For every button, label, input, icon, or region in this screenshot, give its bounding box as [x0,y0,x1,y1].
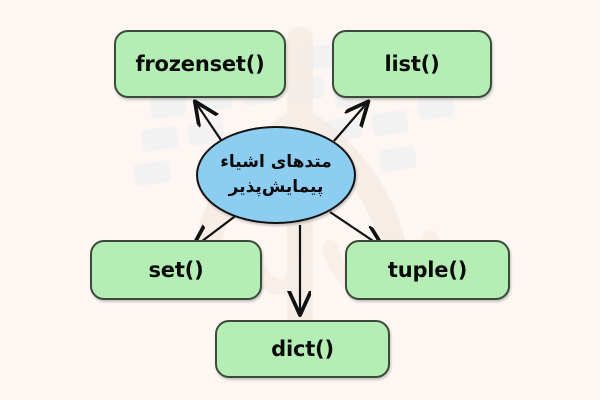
node-frozenset-label: frozenset() [135,52,264,76]
center-node-label-line-2: پیمایش‌پذیر [229,175,324,201]
center-node-iterable-methods[interactable]: متدهای اشیاء پیمایش‌پذیر [196,126,356,224]
node-tuple[interactable]: tuple() [345,240,510,300]
diagram-canvas: متدهای اشیاء پیمایش‌پذیر frozenset() lis… [0,0,600,400]
node-list-label: list() [385,52,440,76]
node-set[interactable]: set() [90,240,262,300]
edge-center-to-list [334,103,367,141]
node-dict-label: dict() [271,337,334,361]
edge-center-to-frozenset [196,103,221,140]
center-node-label-line-1: متدهای اشیاء [220,150,332,176]
node-dict[interactable]: dict() [215,320,390,378]
node-tuple-label: tuple() [388,258,467,282]
node-set-label: set() [149,258,204,282]
node-list[interactable]: list() [332,30,492,98]
node-frozenset[interactable]: frozenset() [114,30,286,98]
